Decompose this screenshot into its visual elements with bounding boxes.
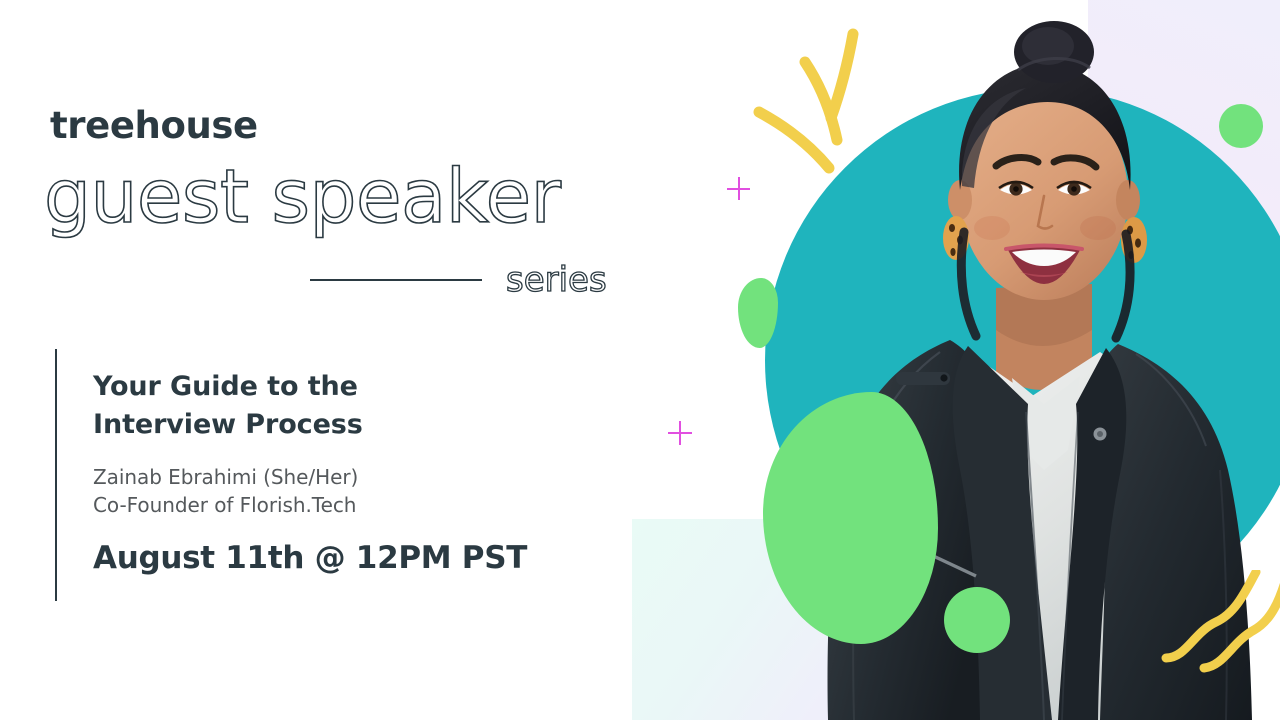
brand-wordmark: treehouse — [50, 107, 258, 144]
headline-outlined: guest speaker — [44, 160, 561, 234]
event-info-block: Your Guide to the Interview Process Zain… — [55, 349, 615, 601]
plus-mark-icon-lower — [668, 421, 692, 445]
series-divider-rule — [310, 279, 482, 281]
event-info-body: Your Guide to the Interview Process Zain… — [93, 349, 613, 578]
event-title-line-1: Your Guide to the — [93, 368, 613, 406]
vertical-divider-rule — [55, 349, 57, 601]
sparkle-rays-icon — [745, 28, 885, 208]
speaker-name: Zainab Ebrahimi (She/Her) — [93, 463, 613, 491]
plus-mark-icon-upper — [727, 177, 750, 200]
promo-banner: treehouse guest speaker series Your Guid… — [0, 0, 1280, 720]
series-label: series — [506, 263, 607, 297]
wavy-lines-icon — [1160, 570, 1280, 695]
green-circle-top-right-icon — [1219, 104, 1263, 148]
green-circle-bottom-icon — [944, 587, 1010, 653]
event-title-line-2: Interview Process — [93, 406, 613, 444]
event-title: Your Guide to the Interview Process — [93, 368, 613, 445]
series-row: series — [310, 258, 625, 302]
speaker-role: Co-Founder of Florish.Tech — [93, 491, 613, 519]
event-datetime: August 11th @ 12PM PST — [93, 540, 613, 577]
